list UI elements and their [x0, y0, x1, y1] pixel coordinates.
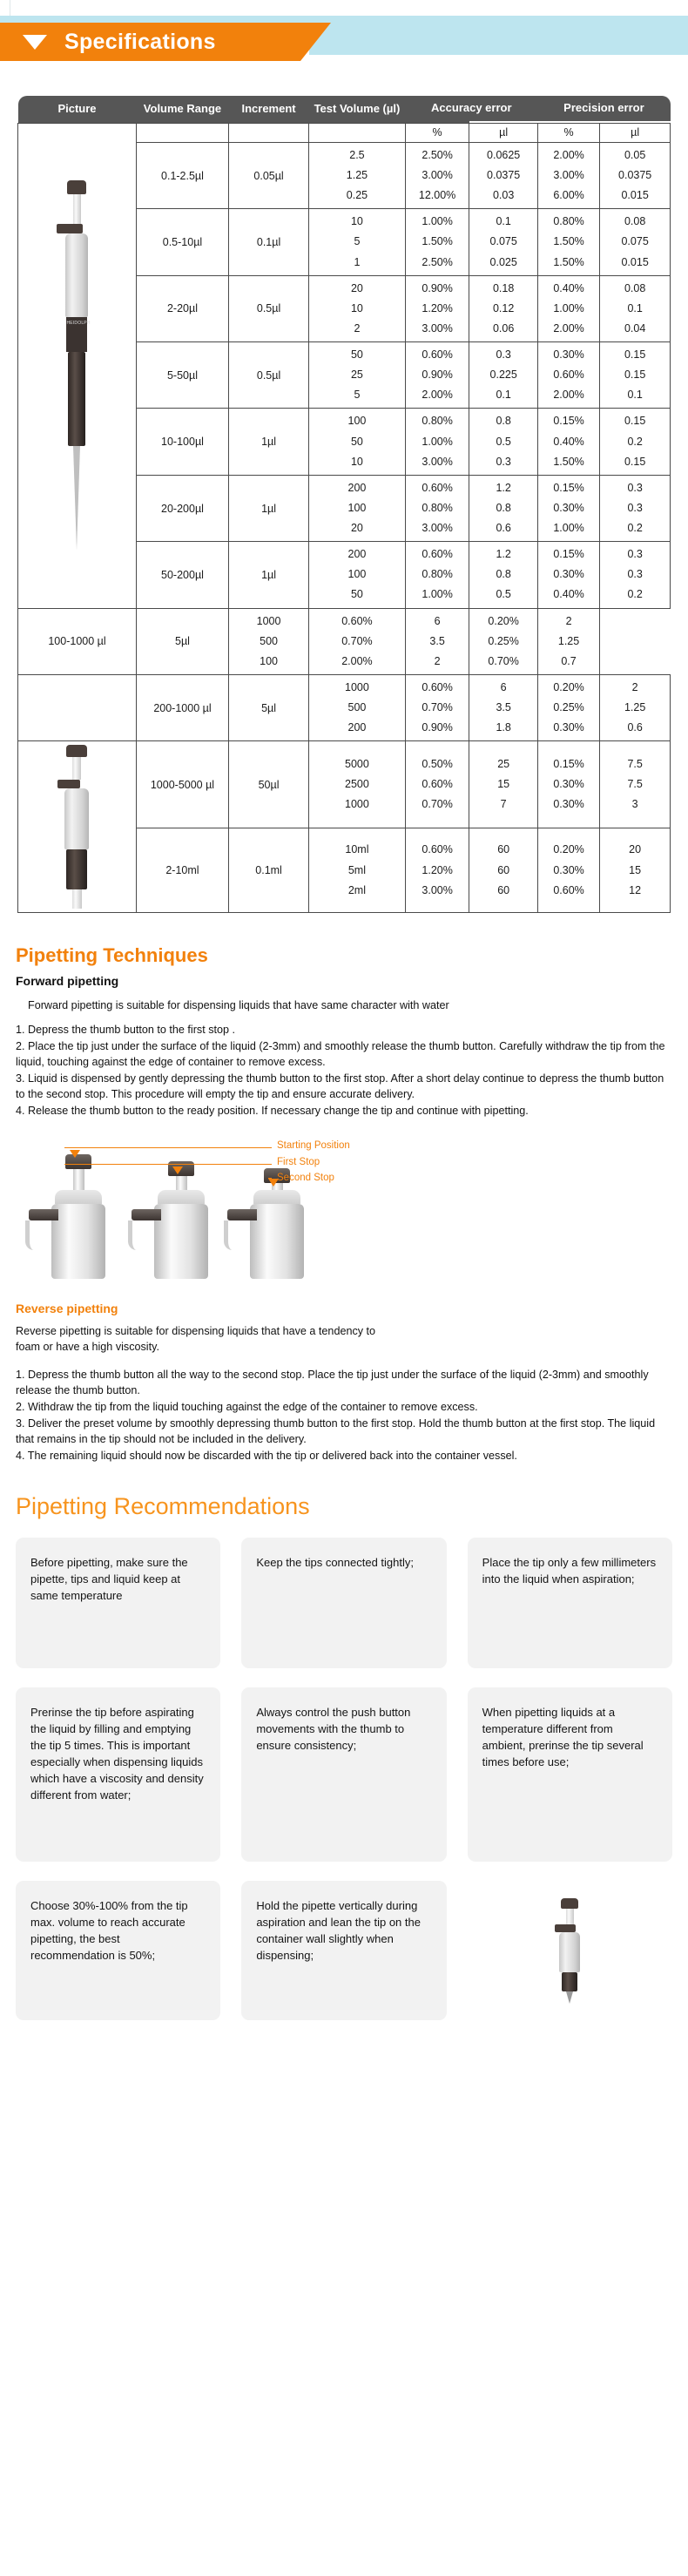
cell-increment: 0.5µl: [228, 342, 308, 409]
cell-accuracy-ul: 0.80.50.3: [469, 409, 537, 475]
page-title: Specifications: [64, 31, 216, 53]
pipette-illustration-photo: [539, 1898, 600, 2003]
subhdr-precision-ul: µl: [600, 123, 671, 142]
cell-accuracy-ul: 63.51.8: [469, 674, 537, 740]
cell-volume-range: 0.1-2.5µl: [136, 142, 228, 208]
cell-accuracy-pct: 0.90%1.20%3.00%: [405, 275, 469, 341]
cell-increment: 5µl: [136, 608, 228, 674]
cell-increment: 1µl: [228, 475, 308, 541]
cell-increment: 0.05µl: [228, 142, 308, 208]
pipette-body: [154, 1204, 208, 1279]
pipette-shoulder: [253, 1190, 300, 1204]
cell-precision-ul: 7.57.53: [600, 741, 671, 828]
cell-precision-pct: 0.30%0.60%2.00%: [537, 342, 599, 409]
cell-volume-range: 2-10ml: [136, 828, 228, 912]
cell-increment: 5µl: [228, 674, 308, 740]
cell-accuracy-ul: 0.06250.03750.03: [469, 142, 537, 208]
recommendation-cards-grid: Before pipetting, make sure the pipette,…: [0, 1538, 688, 2020]
list-item: 4. The remaining liquid should now be di…: [16, 1449, 672, 1464]
cell-precision-pct: 0.40%1.00%2.00%: [537, 275, 599, 341]
cell-accuracy-pct: 2.50%3.00%12.00%: [405, 142, 469, 208]
tip-ejector-lever: [227, 1209, 257, 1220]
cell-precision-ul: 0.150.150.1: [600, 342, 671, 409]
cell-increment: 50µl: [228, 741, 308, 828]
cell-accuracy-ul: 0.10.0750.025: [469, 209, 537, 275]
table-row: 1000-5000 µl 50µl 500025001000 0.50%0.60…: [18, 741, 671, 828]
picture-cell-large-pipette: [18, 741, 137, 913]
cell-test-volumes: 1000500100: [228, 608, 308, 674]
recommendations-heading: Pipetting Recommendations: [0, 1493, 688, 1520]
banner-orange-block: Specifications: [0, 23, 331, 61]
table-row: 100-1000 µl 5µl 1000500100 0.60%0.70%2.0…: [18, 608, 671, 674]
col-volume-range: Volume Range: [136, 96, 228, 123]
forward-pipetting-steps: 1. Depress the thumb button to the first…: [16, 1023, 672, 1119]
cell-precision-ul: 21.250.7: [537, 608, 599, 674]
list-item: 2. Place the tip just under the surface …: [16, 1039, 672, 1071]
recommendation-card: Always control the push button movements…: [241, 1687, 446, 1862]
pipette-illustration-small: HEIDOLPH: [46, 180, 107, 551]
label-starting-position: Starting Position: [277, 1140, 350, 1151]
table-body: HEIDOLPH % µl % µl 0.1-2.5µl 0.05µl 2: [18, 123, 671, 912]
banner-blue-top-strip: [0, 16, 688, 23]
col-accuracy-error: Accuracy error: [405, 96, 537, 121]
diagram-pipette-first-stop: [141, 1161, 221, 1279]
cell-increment: 1µl: [228, 409, 308, 475]
banner-blue-block: [309, 23, 688, 55]
col-precision-error: Precision error: [537, 96, 670, 121]
cell-accuracy-pct: 0.60%0.80%3.00%: [405, 475, 469, 541]
cell-test-volumes: 10ml5ml2ml: [309, 828, 406, 912]
list-item: 4. Release the thumb button to the ready…: [16, 1104, 672, 1119]
cell-precision-ul: 21.250.6: [600, 674, 671, 740]
cell-precision-ul: 0.080.0750.015: [600, 209, 671, 275]
col-test-volume: Test Volume (µl): [309, 96, 406, 123]
cell-volume-range: 200-1000 µl: [136, 674, 228, 740]
cell-precision-pct: 0.15%0.30%0.30%: [537, 741, 599, 828]
specifications-table-wrapper: Picture Volume Range Increment Test Volu…: [0, 96, 688, 913]
recommendation-card-image: [468, 1881, 672, 2020]
pipette-shoulder: [55, 1190, 102, 1204]
recommendation-card: Choose 30%-100% from the tip max. volume…: [16, 1881, 220, 2020]
cell-accuracy-ul: 0.180.120.06: [469, 275, 537, 341]
finger-hook: [128, 1220, 137, 1250]
cell-accuracy-pct: 0.50%0.60%0.70%: [405, 741, 469, 828]
cell-volume-range: 0.5-10µl: [136, 209, 228, 275]
cell-precision-ul: 0.30.30.2: [600, 475, 671, 541]
pipette-shoulder: [158, 1190, 205, 1204]
cell-test-volumes: 50255: [309, 342, 406, 409]
tip-ejector-lever: [132, 1209, 161, 1220]
list-item: 3. Deliver the preset volume by smoothly…: [16, 1416, 672, 1448]
cell-precision-pct: 0.20%0.25%0.70%: [469, 608, 537, 674]
pipette-body: [51, 1204, 105, 1279]
marker-first-stop-icon: [172, 1166, 183, 1174]
plunger-shaft: [73, 1169, 84, 1190]
cell-accuracy-pct: 0.60%0.70%0.90%: [405, 674, 469, 740]
tip-ejector-lever: [29, 1209, 58, 1220]
cell-volume-range: 20-200µl: [136, 475, 228, 541]
diagram-pipette-starting: [38, 1154, 118, 1279]
table-header-row: Picture Volume Range Increment Test Volu…: [18, 96, 671, 121]
cell-precision-pct: 0.20%0.25%0.30%: [537, 674, 599, 740]
reverse-pipetting-steps: 1. Depress the thumb button all the way …: [16, 1368, 672, 1464]
cell-precision-ul: 201512: [600, 828, 671, 912]
reverse-pipetting-intro: Reverse pipetting is suitable for dispen…: [16, 1324, 399, 1356]
techniques-heading: Pipetting Techniques: [16, 944, 672, 967]
col-picture: Picture: [18, 96, 137, 123]
cell-accuracy-pct: 0.60%1.20%3.00%: [405, 828, 469, 912]
cell-accuracy-ul: 1.20.80.6: [469, 475, 537, 541]
cell-accuracy-pct: 1.00%1.50%2.50%: [405, 209, 469, 275]
page-root: Specifications Picture Volume Range Incr…: [0, 0, 688, 2576]
cell-test-volumes: 20102: [309, 275, 406, 341]
subhdr-accuracy-ul: µl: [469, 123, 537, 142]
cell-test-volumes: 2.51.250.25: [309, 142, 406, 208]
cell-volume-range: 10-100µl: [136, 409, 228, 475]
cell-precision-pct: 2.00%3.00%6.00%: [537, 142, 599, 208]
cell-increment: 0.5µl: [228, 275, 308, 341]
subhdr-precision-percent: %: [537, 123, 599, 142]
col-increment: Increment: [228, 96, 308, 123]
cell-test-volumes: 500025001000: [309, 741, 406, 828]
list-item: 2. Withdraw the tip from the liquid touc…: [16, 1400, 672, 1416]
cell-accuracy-ul: 63.52: [405, 608, 469, 674]
recommendation-card: Prerinse the tip before aspirating the l…: [16, 1687, 220, 1862]
table-head: Picture Volume Range Increment Test Volu…: [18, 96, 671, 123]
cell-test-volumes: 1005010: [309, 409, 406, 475]
forward-pipetting-intro: Forward pipetting is suitable for dispen…: [28, 998, 672, 1014]
cell-increment: 0.1ml: [228, 828, 308, 912]
leader-line-starting-position: [64, 1147, 272, 1148]
reverse-pipetting-title: Reverse pipetting: [16, 1302, 672, 1315]
cell-increment: 0.1µl: [228, 209, 308, 275]
cell-volume-range: 100-1000 µl: [18, 608, 137, 674]
list-item: 1. Depress the thumb button all the way …: [16, 1368, 672, 1399]
cell-test-volumes: 20010050: [309, 542, 406, 608]
recommendation-card: Hold the pipette vertically during aspir…: [241, 1881, 446, 2020]
cell-precision-ul: 0.150.20.15: [600, 409, 671, 475]
cell-precision-pct: 0.15%0.30%0.40%: [537, 542, 599, 608]
cell-accuracy-pct: 0.80%1.00%3.00%: [405, 409, 469, 475]
cell-precision-ul: 0.080.10.04: [600, 275, 671, 341]
cell-precision-pct: 0.80%1.50%1.50%: [537, 209, 599, 275]
pipetting-recommendations-section: Pipetting Recommendations Before pipetti…: [0, 1493, 688, 2020]
picture-cell-small-pipette: HEIDOLPH: [18, 123, 137, 608]
recommendation-card: Keep the tips connected tightly;: [241, 1538, 446, 1668]
cell-test-volumes: 1000500200: [309, 674, 406, 740]
marker-starting-position-icon: [70, 1150, 80, 1158]
cell-volume-range: 2-20µl: [136, 275, 228, 341]
list-item: 3. Liquid is dispensed by gently depress…: [16, 1072, 672, 1103]
cell-precision-pct: 0.20%0.30%0.60%: [537, 828, 599, 912]
table-subheader-row: HEIDOLPH % µl % µl: [18, 123, 671, 142]
cell-accuracy-ul: 606060: [469, 828, 537, 912]
pipetting-techniques-section: Pipetting Techniques Forward pipetting F…: [0, 944, 688, 1464]
cell-test-volumes: 20010020: [309, 475, 406, 541]
table-row: 200-1000 µl 5µl 1000500200 0.60%0.70%0.9…: [18, 674, 671, 740]
cell-accuracy-pct: 0.60%0.90%2.00%: [405, 342, 469, 409]
list-item: 1. Depress the thumb button to the first…: [16, 1023, 672, 1038]
triangle-down-icon: [23, 35, 47, 50]
leader-line-first-stop: [64, 1164, 272, 1165]
pipette-illustration-large: [51, 745, 103, 909]
cell-increment: 1µl: [228, 542, 308, 608]
label-first-stop: First Stop: [277, 1157, 320, 1167]
pipette-body: [250, 1204, 304, 1279]
label-second-stop: Second Stop: [277, 1173, 334, 1183]
cell-accuracy-pct: 0.60%0.80%1.00%: [405, 542, 469, 608]
specifications-banner: Specifications: [0, 16, 688, 80]
cell-volume-range: 5-50µl: [136, 342, 228, 409]
picture-cell-empty: [18, 674, 137, 740]
cell-test-volumes: 1051: [309, 209, 406, 275]
cell-volume-range: 50-200µl: [136, 542, 228, 608]
cell-precision-pct: 0.15%0.30%1.00%: [537, 475, 599, 541]
subhdr-accuracy-percent: %: [405, 123, 469, 142]
recommendation-card: Place the tip only a few millimeters int…: [468, 1538, 672, 1668]
forward-pipetting-title: Forward pipetting: [16, 974, 672, 988]
cell-volume-range: 1000-5000 µl: [136, 741, 228, 828]
cell-precision-pct: 0.15%0.40%1.50%: [537, 409, 599, 475]
cell-accuracy-ul: 1.20.80.5: [469, 542, 537, 608]
plunger-shaft: [176, 1176, 187, 1190]
finger-hook: [25, 1220, 34, 1250]
cell-accuracy-pct: 0.60%0.70%2.00%: [309, 608, 406, 674]
cell-accuracy-ul: 0.30.2250.1: [469, 342, 537, 409]
cell-accuracy-ul: 25157: [469, 741, 537, 828]
specifications-table: Picture Volume Range Increment Test Volu…: [17, 96, 671, 913]
pipette-stop-positions-diagram: Starting Position First Stop Second Stop: [16, 1131, 672, 1279]
cell-precision-ul: 0.050.03750.015: [600, 142, 671, 208]
recommendation-card: Before pipetting, make sure the pipette,…: [16, 1538, 220, 1668]
recommendation-card: When pipetting liquids at a temperature …: [468, 1687, 672, 1862]
finger-hook: [224, 1220, 233, 1250]
cell-precision-ul: 0.30.30.2: [600, 542, 671, 608]
